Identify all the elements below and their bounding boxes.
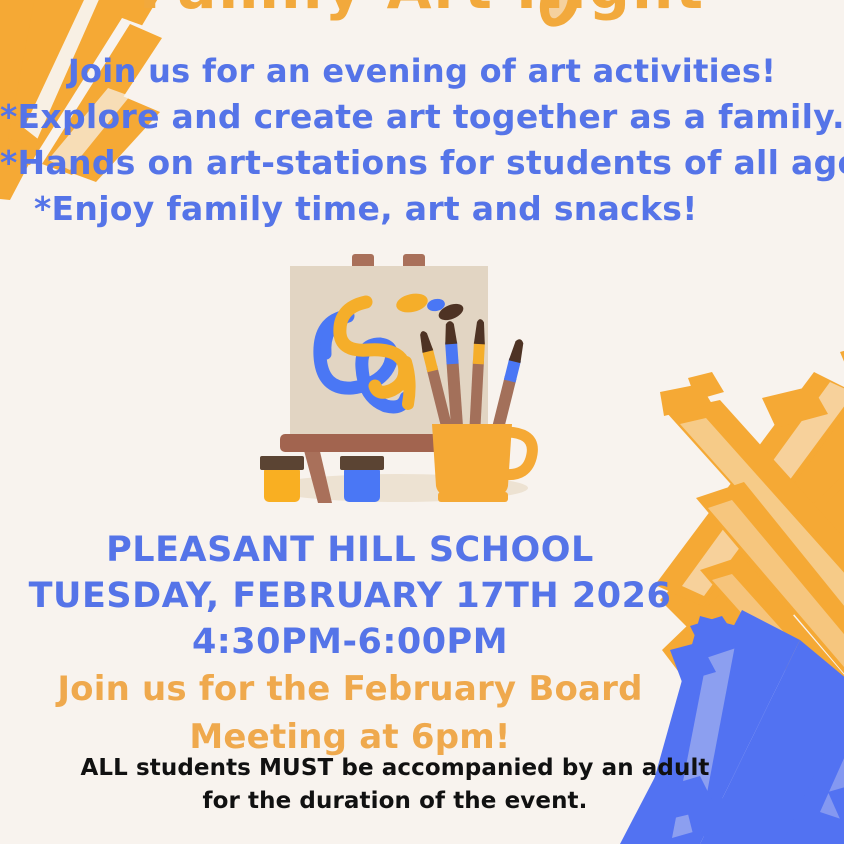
canvas-yellow-tail	[406, 362, 410, 404]
art-night-flyer: Family Art Night Join us for an evening …	[0, 0, 844, 844]
paint-jar-yellow-lid	[260, 456, 304, 470]
paint-jar-blue	[344, 466, 380, 502]
intro-line-1: Join us for an evening of art activities…	[0, 48, 844, 94]
mug-body	[432, 424, 512, 496]
paint-jar-blue-lid	[340, 456, 384, 470]
event-details-block: PLEASANT HILL SCHOOL TUESDAY, FEBRUARY 1…	[0, 528, 700, 761]
venue-line: PLEASANT HILL SCHOOL	[0, 528, 700, 573]
intro-line-2: *Explore and create art together as a fa…	[0, 94, 844, 140]
board-meeting-line-1: Join us for the February Board	[0, 665, 700, 713]
intro-line-4: *Enjoy family time, art and snacks!	[0, 186, 844, 232]
time-line: 4:30PM-6:00PM	[0, 619, 700, 665]
paint-jar-yellow	[264, 466, 300, 502]
page-title-remnant: Family Art Night	[0, 0, 844, 22]
supervision-notice-block: ALL students MUST be accompanied by an a…	[0, 752, 790, 818]
date-line: TUESDAY, FEBRUARY 17TH 2026	[0, 573, 700, 619]
notice-line-1: ALL students MUST be accompanied by an a…	[0, 752, 790, 785]
intro-line-3: *Hands on art-stations for students of a…	[0, 140, 844, 186]
easel-ledge	[280, 434, 440, 452]
mug-base	[438, 492, 508, 502]
easel-with-paint-illustration	[240, 248, 550, 520]
intro-text-block: Join us for an evening of art activities…	[0, 48, 844, 232]
notice-line-2: for the duration of the event.	[0, 785, 790, 818]
